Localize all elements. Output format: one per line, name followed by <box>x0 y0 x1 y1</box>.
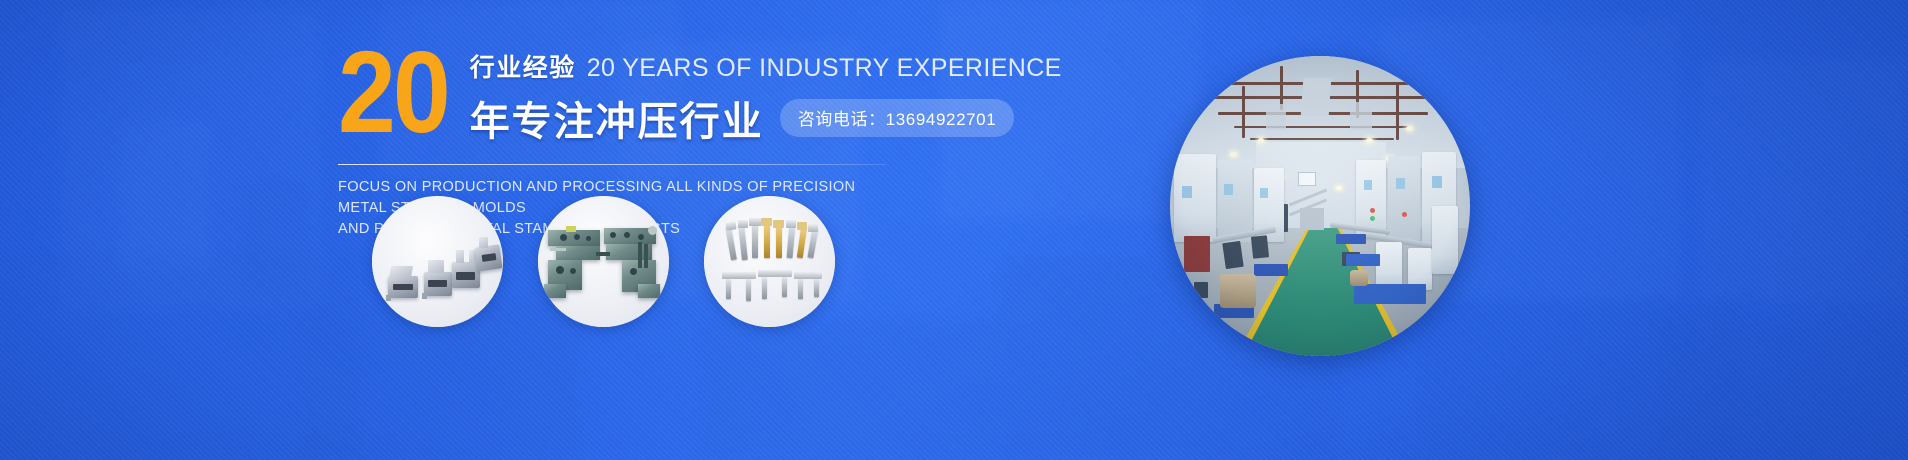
years-number: 20 <box>338 40 448 147</box>
experience-en-label: 20 YEARS OF INDUSTRY EXPERIENCE <box>587 54 1062 83</box>
headline-line-2: 年专注冲压行业 咨询电话：13694922701 <box>470 89 1062 147</box>
factory-photo-circle <box>1170 56 1470 356</box>
divider-rule <box>338 164 886 165</box>
product-circle-stamping-mold <box>538 196 669 327</box>
promo-banner: 20 行业经验 20 YEARS OF INDUSTRY EXPERIENCE … <box>0 0 1908 460</box>
product-circle-usb-connectors <box>372 196 503 327</box>
headline-row: 20 行业经验 20 YEARS OF INDUSTRY EXPERIENCE … <box>338 36 898 147</box>
focus-cn-headline: 年专注冲压行业 <box>470 89 764 147</box>
phone-badge[interactable]: 咨询电话：13694922701 <box>780 99 1015 137</box>
headline-text-group: 行业经验 20 YEARS OF INDUSTRY EXPERIENCE 年专注… <box>470 36 1062 147</box>
product-circle-metal-terminals <box>704 196 835 327</box>
headline-line-1: 行业经验 20 YEARS OF INDUSTRY EXPERIENCE <box>470 48 1062 84</box>
experience-cn-label: 行业经验 <box>470 48 576 84</box>
